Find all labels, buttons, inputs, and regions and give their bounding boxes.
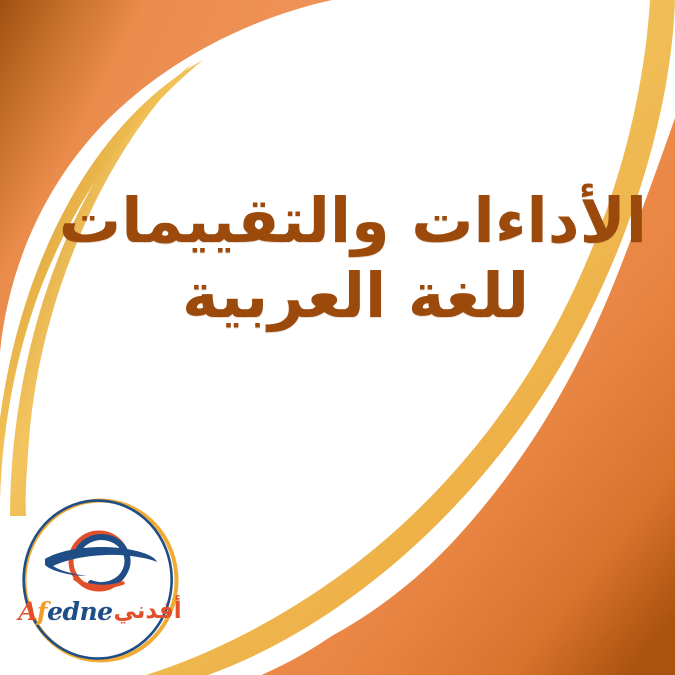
page-title: الأداءات والتقييمات للغة العربية <box>0 186 675 331</box>
cover-page: الأداءات والتقييمات للغة العربية Afedne … <box>0 0 675 675</box>
logo-letter-f: f <box>37 597 47 626</box>
logo-letter-a: A <box>18 597 36 626</box>
title-line-1: الأداءات والتقييمات <box>64 186 647 255</box>
logo-artwork <box>19 497 182 664</box>
bottom-right-gold-swoosh <box>146 0 675 675</box>
logo-arabic-wordmark: أفدني <box>114 600 182 623</box>
logo-latin-wordmark: Afedne <box>18 599 112 624</box>
logo-letters-rest: edne <box>47 597 112 626</box>
logo-wordmark: Afedne أفدني <box>19 594 182 628</box>
bottom-right-white-gap <box>196 92 675 675</box>
afedne-logo[interactable]: Afedne أفدني <box>19 497 182 664</box>
title-line-2: للغة العربية <box>64 261 647 330</box>
